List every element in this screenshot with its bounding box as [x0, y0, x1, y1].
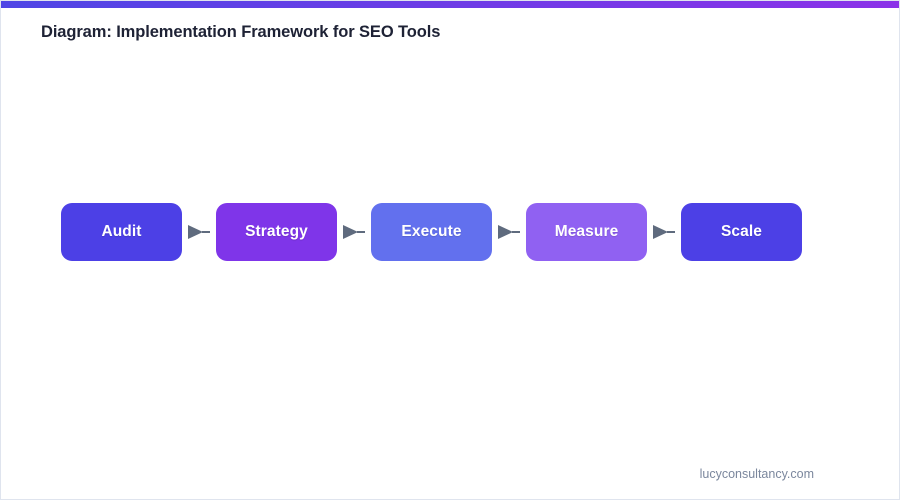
flow-node-scale[interactable]: Scale [681, 203, 802, 261]
flow-node-label: Measure [555, 223, 619, 241]
flow-node-measure[interactable]: Measure [526, 203, 647, 261]
diagram-canvas: Diagram: Implementation Framework for SE… [0, 0, 900, 500]
flow-node-label: Strategy [245, 223, 308, 241]
flow-arrow-1 [182, 219, 216, 245]
flow-node-label: Scale [721, 223, 762, 241]
flow-arrow-4 [647, 219, 681, 245]
process-flow: AuditStrategyExecuteMeasureScale [61, 203, 802, 261]
top-accent-bar [1, 1, 900, 8]
flow-arrow-2 [337, 219, 371, 245]
footer-website-url: lucyconsultancy.com [700, 467, 814, 481]
flow-node-audit[interactable]: Audit [61, 203, 182, 261]
flow-node-label: Audit [101, 223, 141, 241]
flow-node-strategy[interactable]: Strategy [216, 203, 337, 261]
flow-arrow-3 [492, 219, 526, 245]
page-title: Diagram: Implementation Framework for SE… [41, 23, 440, 42]
flow-node-execute[interactable]: Execute [371, 203, 492, 261]
flow-node-label: Execute [401, 223, 461, 241]
